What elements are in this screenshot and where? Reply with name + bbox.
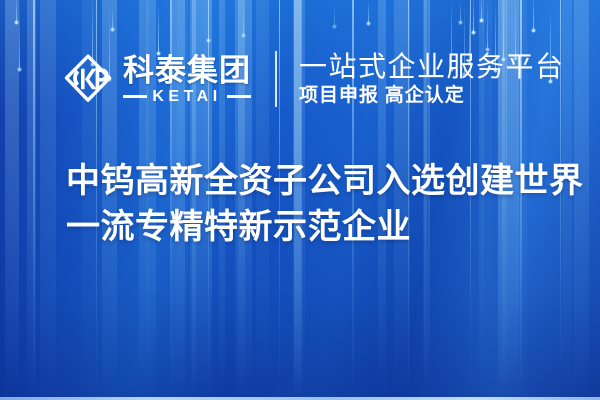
headline-block: 中钨高新全资子公司入选创建世界 一流专精特新示范企业 <box>66 158 576 250</box>
falling-particle <box>460 1 461 23</box>
logo-company-name-en: KETAI <box>152 88 221 105</box>
logo-wordmark: 科泰集团 KETAI <box>123 54 251 105</box>
logo-dash-right <box>227 95 251 98</box>
falling-particle <box>473 0 474 33</box>
ketai-diamond-kp-icon <box>62 52 114 106</box>
logo-company-name-cn: 科泰集团 <box>123 54 251 87</box>
falling-particle <box>208 1 209 41</box>
falling-particle <box>334 4 335 27</box>
headline-line-2: 一流专精特新示范企业 <box>66 204 576 250</box>
falling-particle <box>16 0 17 23</box>
light-streak <box>5 0 19 400</box>
headline-line-1: 中钨高新全资子公司入选创建世界 <box>66 158 576 204</box>
logo-en-row: KETAI <box>123 88 251 105</box>
tagline-block: 一站式企业服务平台 项目申报 高企认定 <box>299 51 565 107</box>
light-streak-bright <box>33 0 35 400</box>
logo-dash-left <box>123 95 147 98</box>
tagline-secondary: 项目申报 高企认定 <box>299 84 565 107</box>
tagline-primary: 一站式企业服务平台 <box>299 51 565 82</box>
falling-particle <box>487 0 488 50</box>
falling-particle <box>112 8 113 31</box>
light-streak <box>40 0 57 400</box>
light-streak <box>574 0 588 400</box>
falling-particle <box>19 0 20 70</box>
falling-particle <box>481 0 482 21</box>
banner-header: 科泰集团 KETAI 一站式企业服务平台 项目申报 高企认定 <box>62 46 565 112</box>
falling-particle <box>243 5 244 36</box>
vertical-divider <box>275 51 277 107</box>
falling-particle <box>533 0 534 31</box>
promo-banner: 科泰集团 KETAI 一站式企业服务平台 项目申报 高企认定 中钨高新全资子公司… <box>0 0 600 400</box>
falling-particle <box>368 0 369 24</box>
light-streak <box>27 0 36 400</box>
ketai-logo[interactable]: 科泰集团 KETAI <box>62 52 251 106</box>
